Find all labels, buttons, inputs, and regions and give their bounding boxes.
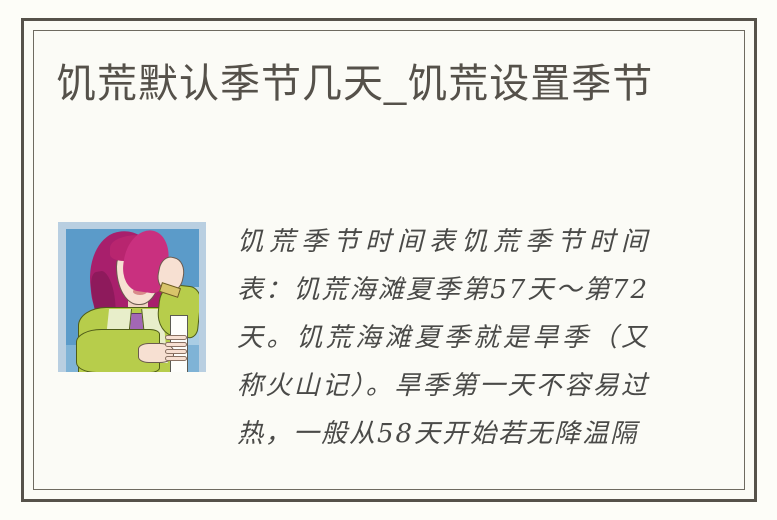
finger-1	[165, 335, 187, 340]
finger-3	[165, 349, 187, 354]
finger-4	[165, 356, 187, 361]
page-root: 饥荒默认季节几天_饥荒设置季节	[0, 0, 777, 520]
article-illustration	[58, 222, 206, 372]
illustration-panel	[66, 229, 199, 372]
article-body-text: 饥荒季节时间表饥荒季节时间表：饥荒海滩夏季第57天～第72天。饥荒海滩夏季就是旱…	[237, 218, 649, 458]
page-title: 饥荒默认季节几天_饥荒设置季节	[56, 60, 653, 108]
finger-2	[165, 342, 187, 347]
